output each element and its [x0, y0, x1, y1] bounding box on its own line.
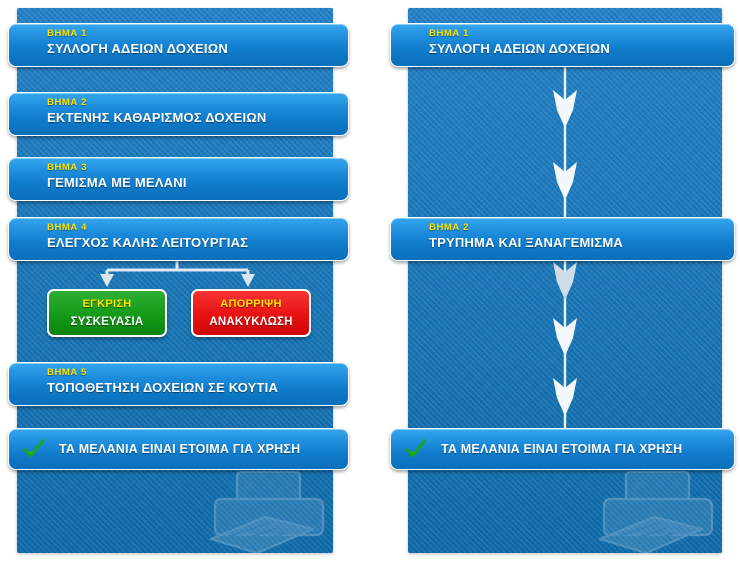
step-number: ΒΗΜΑ 5 — [47, 366, 348, 379]
decision-branch-connector — [95, 261, 260, 289]
result-title: ΤΑ ΜΕΛΑΝΙΑ ΕΙΝΑΙ ΕΤΟΙΜΑ ΓΙΑ ΧΡΗΣΗ — [59, 440, 300, 458]
step-bar-right-1[interactable]: ΒΗΜΑ 1 ΣΥΛΛΟΓΗ ΑΔΕΙΩΝ ΔΟΧΕΙΩΝ — [390, 23, 735, 67]
check-icon — [23, 438, 45, 460]
step-title: ΣΥΛΛΟΓΗ ΑΔΕΙΩΝ ΔΟΧΕΙΩΝ — [47, 40, 348, 58]
printer-icon — [191, 465, 333, 553]
step-title: ΤΡΥΠΗΜΑ ΚΑΙ ΞΑΝΑΓΕΜΙΣΜΑ — [429, 234, 734, 252]
flow-arrows-right-lower — [550, 260, 580, 430]
step-number: ΒΗΜΑ 3 — [47, 161, 348, 174]
outcome-subtitle: ΑΝΑΚΥΚΛΩΣΗ — [193, 313, 309, 332]
step-number: ΒΗΜΑ 2 — [429, 221, 734, 234]
step-bar-left-3[interactable]: ΒΗΜΑ 3 ΓΕΜΙΣΜΑ ΜΕ ΜΕΛΑΝΙ — [8, 157, 349, 201]
step-number: ΒΗΜΑ 1 — [429, 27, 734, 40]
step-title: ΣΥΛΛΟΓΗ ΑΔΕΙΩΝ ΔΟΧΕΙΩΝ — [429, 40, 734, 58]
step-number: ΒΗΜΑ 2 — [47, 96, 348, 109]
step-title: ΓΕΜΙΣΜΑ ΜΕ ΜΕΛΑΝΙ — [47, 174, 348, 192]
step-bar-right-2[interactable]: ΒΗΜΑ 2 ΤΡΥΠΗΜΑ ΚΑΙ ΞΑΝΑΓΕΜΙΣΜΑ — [390, 217, 735, 261]
step-title: ΤΟΠΟΘΕΤΗΣΗ ΔΟΧΕΙΩΝ ΣΕ ΚΟΥΤΙΑ — [47, 379, 348, 397]
step-number: ΒΗΜΑ 1 — [47, 27, 348, 40]
outcome-reject-box[interactable]: ΑΠΟΡΡΙΨΗ ΑΝΑΚΥΚΛΩΣΗ — [191, 289, 311, 337]
step-bar-left-4[interactable]: ΒΗΜΑ 4 ΕΛΕΓΧΟΣ ΚΑΛΗΣ ΛΕΙΤΟΥΡΓΙΑΣ — [8, 217, 349, 261]
step-title: ΕΛΕΓΧΟΣ ΚΑΛΗΣ ΛΕΙΤΟΥΡΓΙΑΣ — [47, 234, 348, 252]
step-title: ΕΚΤΕΝΗΣ ΚΑΘΑΡΙΣΜΟΣ ΔΟΧΕΙΩΝ — [47, 109, 348, 127]
flow-arrows-right-upper — [550, 66, 580, 218]
outcome-heading: ΕΓΚΡΙΣΗ — [49, 296, 165, 313]
outcome-heading: ΑΠΟΡΡΙΨΗ — [193, 296, 309, 313]
result-title: ΤΑ ΜΕΛΑΝΙΑ ΕΙΝΑΙ ΕΤΟΙΜΑ ΓΙΑ ΧΡΗΣΗ — [441, 440, 682, 458]
outcome-subtitle: ΣΥΣΚΕΥΑΣΙΑ — [49, 313, 165, 332]
flowchart-canvas: ΒΗΜΑ 1 ΣΥΛΛΟΓΗ ΑΔΕΙΩΝ ΔΟΧΕΙΩΝ ΒΗΜΑ 2 ΕΚΤ… — [0, 0, 740, 570]
step-bar-left-1[interactable]: ΒΗΜΑ 1 ΣΥΛΛΟΓΗ ΑΔΕΙΩΝ ΔΟΧΕΙΩΝ — [8, 23, 349, 67]
step-bar-left-5[interactable]: ΒΗΜΑ 5 ΤΟΠΟΘΕΤΗΣΗ ΔΟΧΕΙΩΝ ΣΕ ΚΟΥΤΙΑ — [8, 362, 349, 406]
printer-icon — [580, 465, 722, 553]
check-icon — [405, 438, 427, 460]
step-bar-left-2[interactable]: ΒΗΜΑ 2 ΕΚΤΕΝΗΣ ΚΑΘΑΡΙΣΜΟΣ ΔΟΧΕΙΩΝ — [8, 92, 349, 136]
result-bar-right[interactable]: ΤΑ ΜΕΛΑΝΙΑ ΕΙΝΑΙ ΕΤΟΙΜΑ ΓΙΑ ΧΡΗΣΗ — [390, 428, 735, 470]
step-number: ΒΗΜΑ 4 — [47, 221, 348, 234]
result-bar-left[interactable]: ΤΑ ΜΕΛΑΝΙΑ ΕΙΝΑΙ ΕΤΟΙΜΑ ΓΙΑ ΧΡΗΣΗ — [8, 428, 349, 470]
outcome-approve-box[interactable]: ΕΓΚΡΙΣΗ ΣΥΣΚΕΥΑΣΙΑ — [47, 289, 167, 337]
